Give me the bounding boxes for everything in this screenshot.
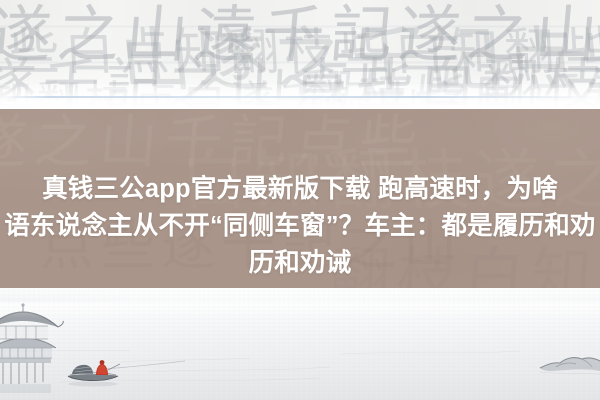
headline-band: 遂之山千記点些 白知翻枝遂之山 点些遂千記之山 翻枝白知点遂記 真钱三公app官… (0, 109, 600, 288)
page-title-line-3: 历和劝诫 (249, 245, 352, 282)
page-title: 真钱三公app官方最新版下载 跑高速时，为啥 语东说念主从不开“同侧车窗”？车主… (0, 109, 600, 288)
page-title-line-2: 语东说念主从不开“同侧车窗”？车主：都是履历和劝 (4, 208, 595, 245)
landscape-scene-svg (0, 288, 600, 400)
boat-reflection (68, 382, 118, 387)
pavilion-reflection (0, 384, 51, 393)
page-title-line-1: 真钱三公app官方最新版下载 跑高速时，为啥 (42, 171, 558, 208)
article-header-banner: 遂之山遠千記遂之山千記遂之 点些白点知翻枝些白知翻些 遂千記之山点些白翻枝遂山 … (0, 0, 600, 400)
calligraphy-background-band: 遂之山遠千記遂之山千記遂之 点些白点知翻枝些白知翻些 遂千記之山点些白翻枝遂山 … (0, 0, 600, 109)
landscape-illustration (0, 288, 600, 400)
paper-blue-rule-line (0, 96, 600, 98)
